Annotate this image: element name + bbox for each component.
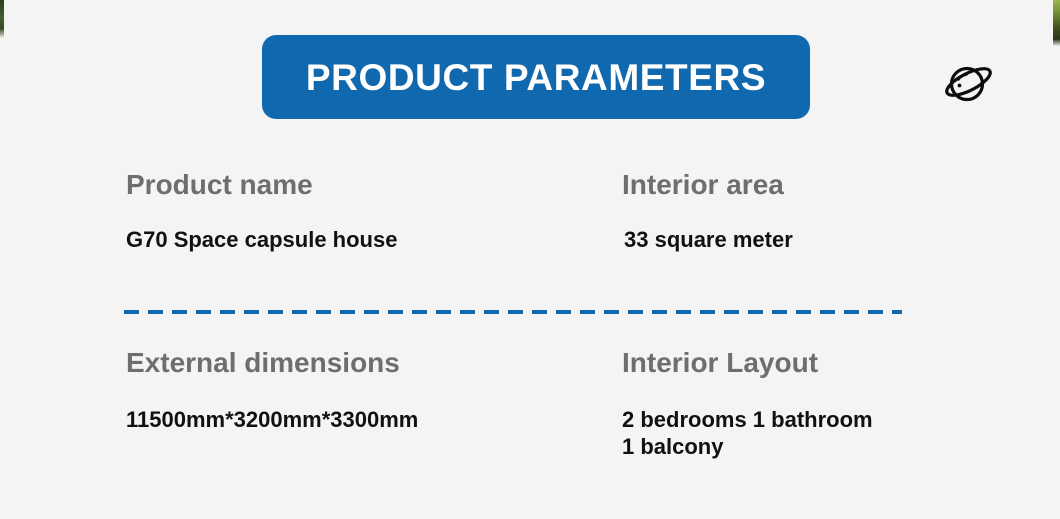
product-parameters-page: PRODUCT PARAMETERS Product name G70 Spac… bbox=[0, 0, 1060, 519]
product-parameters-banner: PRODUCT PARAMETERS bbox=[262, 35, 810, 119]
planet-icon bbox=[941, 55, 995, 109]
spec-label-product-name: Product name bbox=[126, 170, 397, 201]
dashed-divider bbox=[124, 310, 902, 314]
spec-value-interior-layout-line-1: 2 bedrooms 1 bathroom bbox=[622, 407, 873, 434]
spec-interior-layout: Interior Layout 2 bedrooms 1 bathroom 1 … bbox=[622, 348, 873, 460]
spec-value-external-dimensions: 11500mm*3200mm*3300mm bbox=[126, 407, 418, 434]
right-edge-sliver bbox=[1053, 0, 1060, 46]
spec-value-interior-layout-line-2: 1 balcony bbox=[622, 434, 873, 461]
spec-value-interior-area: 33 square meter bbox=[624, 227, 793, 254]
spec-external-dimensions: External dimensions 11500mm*3200mm*3300m… bbox=[126, 348, 418, 434]
spec-label-interior-layout: Interior Layout bbox=[622, 348, 873, 379]
left-edge-sliver bbox=[0, 0, 4, 38]
page-title: PRODUCT PARAMETERS bbox=[306, 59, 766, 96]
spec-interior-area: Interior area 33 square meter bbox=[622, 170, 793, 254]
spec-label-interior-area: Interior area bbox=[622, 170, 793, 201]
spec-value-interior-layout: 2 bedrooms 1 bathroom 1 balcony bbox=[622, 407, 873, 461]
spec-product-name: Product name G70 Space capsule house bbox=[126, 170, 397, 254]
spec-value-product-name: G70 Space capsule house bbox=[126, 227, 397, 254]
spec-label-external-dimensions: External dimensions bbox=[126, 348, 418, 379]
